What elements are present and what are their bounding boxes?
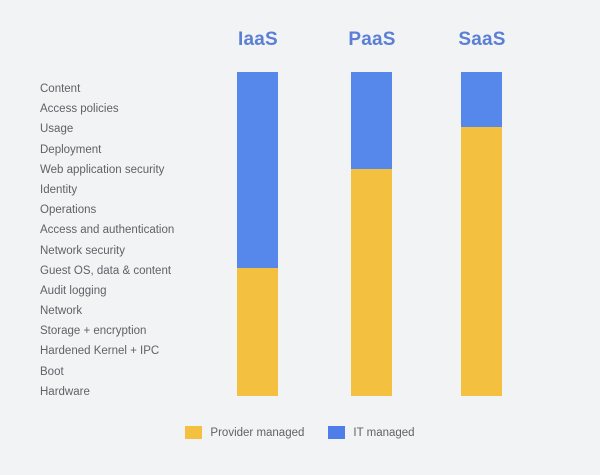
- row-label: Hardened Kernel + IPC: [40, 341, 225, 361]
- row-label: Web application security: [40, 160, 225, 180]
- legend-item-it-managed: IT managed: [328, 426, 414, 439]
- row-label: Identity: [40, 180, 225, 200]
- bar-segment-provider-managed: [351, 169, 392, 396]
- row-label: Access policies: [40, 99, 225, 119]
- provider-swatch-icon: [185, 426, 202, 439]
- column-header-saas: SaaS: [422, 29, 542, 51]
- bar-segment-provider-managed: [461, 127, 502, 396]
- row-label: Deployment: [40, 140, 225, 160]
- column-header-iaas: IaaS: [198, 29, 318, 51]
- row-label: Audit logging: [40, 281, 225, 301]
- bar-segment-it-managed: [237, 72, 278, 268]
- row-label: Access and authentication: [40, 220, 225, 240]
- column-header-paas: PaaS: [312, 29, 432, 51]
- legend-label: Provider managed: [210, 427, 304, 439]
- legend-label: IT managed: [353, 427, 414, 439]
- bar-segment-it-managed: [461, 72, 502, 127]
- row-label: Operations: [40, 200, 225, 220]
- bar-segment-provider-managed: [237, 268, 278, 396]
- row-label: Hardware: [40, 382, 225, 402]
- stacked-responsibility-chart: IaaS PaaS SaaS Content Access policies U…: [0, 0, 600, 475]
- row-label-list: Content Access policies Usage Deployment…: [40, 79, 225, 402]
- bar-paas: [351, 72, 392, 396]
- row-label: Boot: [40, 362, 225, 382]
- row-label: Storage + encryption: [40, 321, 225, 341]
- bar-iaas: [237, 72, 278, 396]
- bar-saas: [461, 72, 502, 396]
- row-label: Usage: [40, 119, 225, 139]
- bar-segment-it-managed: [351, 72, 392, 169]
- it-swatch-icon: [328, 426, 345, 439]
- chart-legend: Provider managed IT managed: [0, 426, 600, 439]
- row-label: Guest OS, data & content: [40, 261, 225, 281]
- row-label: Network: [40, 301, 225, 321]
- row-label: Network security: [40, 241, 225, 261]
- row-label: Content: [40, 79, 225, 99]
- legend-item-provider-managed: Provider managed: [185, 426, 304, 439]
